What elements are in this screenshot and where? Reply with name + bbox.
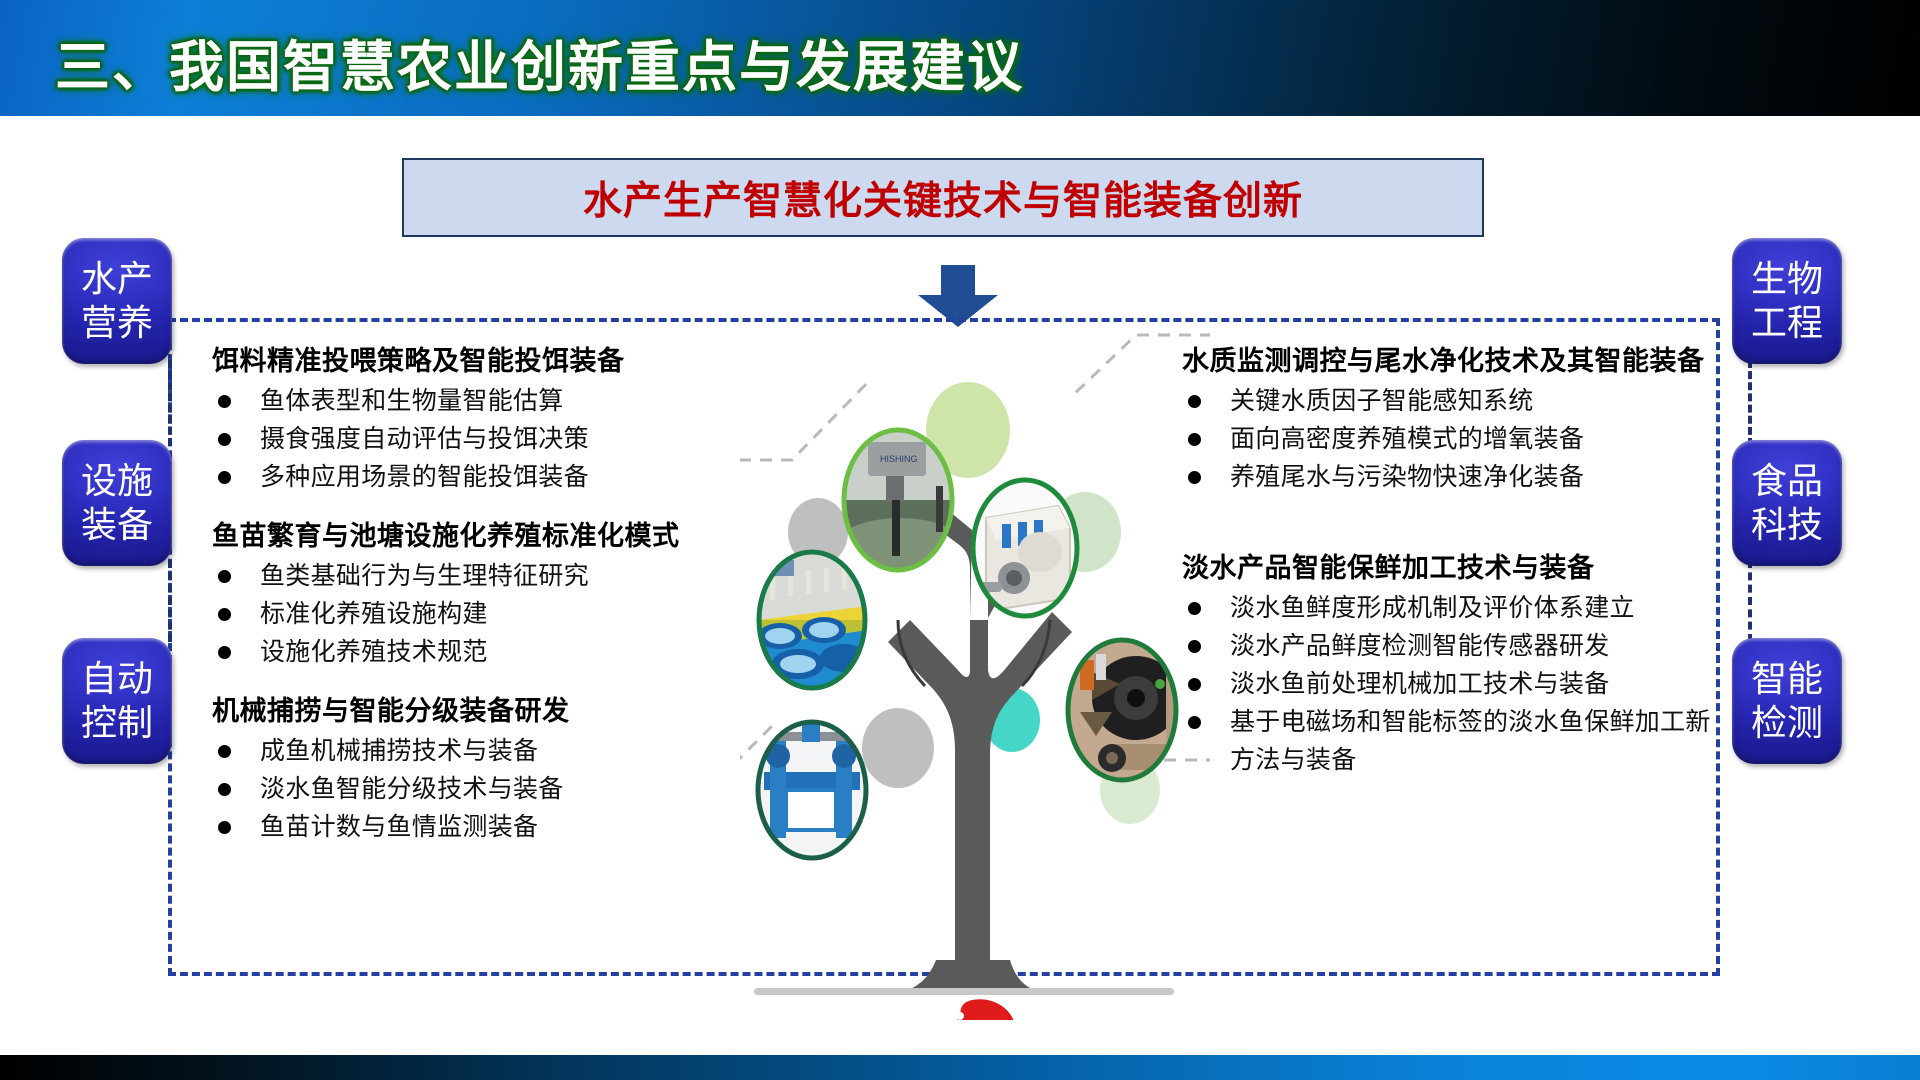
list-item-label: 鱼苗计数与鱼情监测装备 — [260, 813, 538, 841]
section-preservation-processing: 淡水产品智能保鲜加工技术与装备 淡水鱼鲜度形成机制及评价体系建立 淡水产品鲜度检… — [1182, 552, 1712, 779]
page-header: 三、我国智慧农业创新重点与发展建议 — [0, 0, 1920, 116]
page-footer — [0, 1055, 1920, 1080]
bullet-dot-icon — [1188, 433, 1201, 446]
list-item-label: 设施化养殖技术规范 — [260, 638, 488, 666]
bullet-dot-icon — [1188, 716, 1201, 729]
main-title-text: 水产生产智慧化关键技术与智能装备创新 — [583, 170, 1303, 226]
koi-fish-logo — [938, 999, 1016, 1020]
badge-line-1: 食品 — [1751, 459, 1823, 503]
list-item-label: 标准化养殖设施构建 — [260, 600, 488, 628]
list-item-label: 鱼体表型和生物量智能估算 — [260, 387, 564, 415]
main-title-banner: 水产生产智慧化关键技术与智能装备创新 — [402, 158, 1484, 237]
decor-circle — [862, 708, 934, 788]
badge-line-1: 自动 — [81, 657, 153, 701]
section-title: 机械捕捞与智能分级装备研发 — [212, 695, 732, 728]
bullet-dot-icon — [1188, 678, 1201, 691]
badge-intelligent-detection[interactable]: 智能 检测 — [1732, 638, 1842, 764]
section-title: 淡水产品智能保鲜加工技术与装备 — [1182, 552, 1712, 585]
bullet-dot-icon — [218, 395, 231, 408]
badge-line-1: 设施 — [81, 459, 153, 503]
list-item: 鱼体表型和生物量智能估算 — [212, 382, 732, 420]
badge-line-2: 装备 — [81, 503, 153, 547]
badge-automatic-control[interactable]: 自动 控制 — [62, 638, 172, 764]
bullet-dot-icon — [1188, 602, 1201, 615]
bullet-dot-icon — [218, 608, 231, 621]
list-item: 基于电磁场和智能标签的淡水鱼保鲜加工新方法与装备 — [1182, 703, 1712, 779]
section-title: 饵料精准投喂策略及智能投饵装备 — [212, 345, 732, 378]
badge-food-technology[interactable]: 食品 科技 — [1732, 440, 1842, 566]
right-text-column: 水质监测调控与尾水净化技术及其智能装备 关键水质因子智能感知系统 面向高密度养殖… — [1182, 345, 1712, 793]
connector-left-1 — [168, 360, 172, 446]
badge-line-1: 水产 — [81, 257, 153, 301]
bullet-dot-icon — [218, 646, 231, 659]
bullet-dot-icon — [1188, 640, 1201, 653]
bullet-dot-icon — [218, 745, 231, 758]
section-title: 水质监测调控与尾水净化技术及其智能装备 — [1182, 345, 1712, 378]
list-item-label: 淡水产品鲜度检测智能传感器研发 — [1230, 632, 1610, 660]
bubble-processing-machine — [1066, 638, 1180, 784]
list-item-label: 基于电磁场和智能标签的淡水鱼保鲜加工新方法与装备 — [1230, 708, 1711, 774]
connector-right-1 — [1748, 360, 1752, 446]
bullet-list: 成鱼机械捕捞技术与装备 淡水鱼智能分级技术与装备 鱼苗计数与鱼情监测装备 — [212, 732, 732, 846]
bullet-dot-icon — [218, 783, 231, 796]
list-item-label: 鱼类基础行为与生理特征研究 — [260, 562, 589, 590]
list-item: 面向高密度养殖模式的增氧装备 — [1182, 420, 1712, 458]
list-item: 淡水鱼智能分级技术与装备 — [212, 770, 732, 808]
bullet-list: 鱼体表型和生物量智能估算 摄食强度自动评估与投饵决策 多种应用场景的智能投饵装备 — [212, 382, 732, 496]
ground-line — [754, 988, 1174, 995]
list-item-label: 成鱼机械捕捞技术与装备 — [260, 737, 538, 765]
section-feeding: 饵料精准投喂策略及智能投饵装备 鱼体表型和生物量智能估算 摄食强度自动评估与投饵… — [212, 345, 732, 496]
svg-text:HISHING: HISHING — [880, 454, 918, 464]
bullet-dot-icon — [218, 471, 231, 484]
list-item: 标准化养殖设施构建 — [212, 595, 732, 633]
list-item: 鱼类基础行为与生理特征研究 — [212, 557, 732, 595]
bubble-harvest-winch — [756, 720, 868, 860]
badge-line-2: 科技 — [1751, 503, 1823, 547]
list-item: 淡水鱼前处理机械加工技术与装备 — [1182, 665, 1712, 703]
bullet-dot-icon — [1188, 471, 1201, 484]
section-harvest-grading: 机械捕捞与智能分级装备研发 成鱼机械捕捞技术与装备 淡水鱼智能分级技术与装备 鱼… — [212, 695, 732, 846]
bullet-list: 鱼类基础行为与生理特征研究 标准化养殖设施构建 设施化养殖技术规范 — [212, 557, 732, 671]
page-title: 三、我国智慧农业创新重点与发展建议 — [55, 22, 1024, 102]
connector-left-2 — [168, 560, 172, 642]
section-water-quality: 水质监测调控与尾水净化技术及其智能装备 关键水质因子智能感知系统 面向高密度养殖… — [1182, 345, 1712, 496]
list-item-label: 摄食强度自动评估与投饵决策 — [260, 425, 589, 453]
list-item: 设施化养殖技术规范 — [212, 633, 732, 671]
badge-line-1: 生物 — [1751, 257, 1823, 301]
badge-line-2: 营养 — [81, 301, 153, 345]
badge-line-2: 控制 — [81, 701, 153, 745]
bullet-dot-icon — [1188, 395, 1201, 408]
list-item-label: 养殖尾水与污染物快速净化装备 — [1230, 463, 1584, 491]
left-text-column: 饵料精准投喂策略及智能投饵装备 鱼体表型和生物量智能估算 摄食强度自动评估与投饵… — [212, 345, 732, 860]
list-item: 关键水质因子智能感知系统 — [1182, 382, 1712, 420]
bullet-dot-icon — [218, 570, 231, 583]
list-item-label: 淡水鱼智能分级技术与装备 — [260, 775, 564, 803]
list-item-label: 淡水鱼鲜度形成机制及评价体系建立 — [1230, 594, 1635, 622]
list-item: 淡水鱼鲜度形成机制及评价体系建立 — [1182, 589, 1712, 627]
badge-facility-equipment[interactable]: 设施 装备 — [62, 440, 172, 566]
list-item-label: 淡水鱼前处理机械加工技术与装备 — [1230, 670, 1610, 698]
bullet-list: 淡水鱼鲜度形成机制及评价体系建立 淡水产品鲜度检测智能传感器研发 淡水鱼前处理机… — [1182, 589, 1712, 779]
list-item-label: 关键水质因子智能感知系统 — [1230, 387, 1534, 415]
list-item-label: 多种应用场景的智能投饵装备 — [260, 463, 589, 491]
bullet-list: 关键水质因子智能感知系统 面向高密度养殖模式的增氧装备 养殖尾水与污染物快速净化… — [1182, 382, 1712, 496]
list-item: 鱼苗计数与鱼情监测装备 — [212, 808, 732, 846]
section-title: 鱼苗繁育与池塘设施化养殖标准化模式 — [212, 520, 732, 553]
list-item: 成鱼机械捕捞技术与装备 — [212, 732, 732, 770]
badge-line-1: 智能 — [1751, 657, 1823, 701]
bubble-fish-pond-tanks — [758, 552, 868, 688]
badge-line-2: 检测 — [1751, 701, 1823, 745]
list-item-label: 面向高密度养殖模式的增氧装备 — [1230, 425, 1584, 453]
connector-right-2 — [1748, 560, 1752, 642]
list-item: 养殖尾水与污染物快速净化装备 — [1182, 458, 1712, 496]
badge-bioengineering[interactable]: 生物 工程 — [1732, 238, 1842, 364]
section-fry-breeding: 鱼苗繁育与池塘设施化养殖标准化模式 鱼类基础行为与生理特征研究 标准化养殖设施构… — [212, 520, 732, 671]
technology-tree-diagram: HISHING — [740, 320, 1210, 1020]
list-item: 多种应用场景的智能投饵装备 — [212, 458, 732, 496]
pointer-line-top-left — [740, 378, 872, 460]
list-item: 淡水产品鲜度检测智能传感器研发 — [1182, 627, 1712, 665]
badge-aquatic-nutrition[interactable]: 水产 营养 — [62, 238, 172, 364]
bullet-dot-icon — [218, 821, 231, 834]
badge-line-2: 工程 — [1751, 301, 1823, 345]
bullet-dot-icon — [218, 433, 231, 446]
list-item: 摄食强度自动评估与投饵决策 — [212, 420, 732, 458]
